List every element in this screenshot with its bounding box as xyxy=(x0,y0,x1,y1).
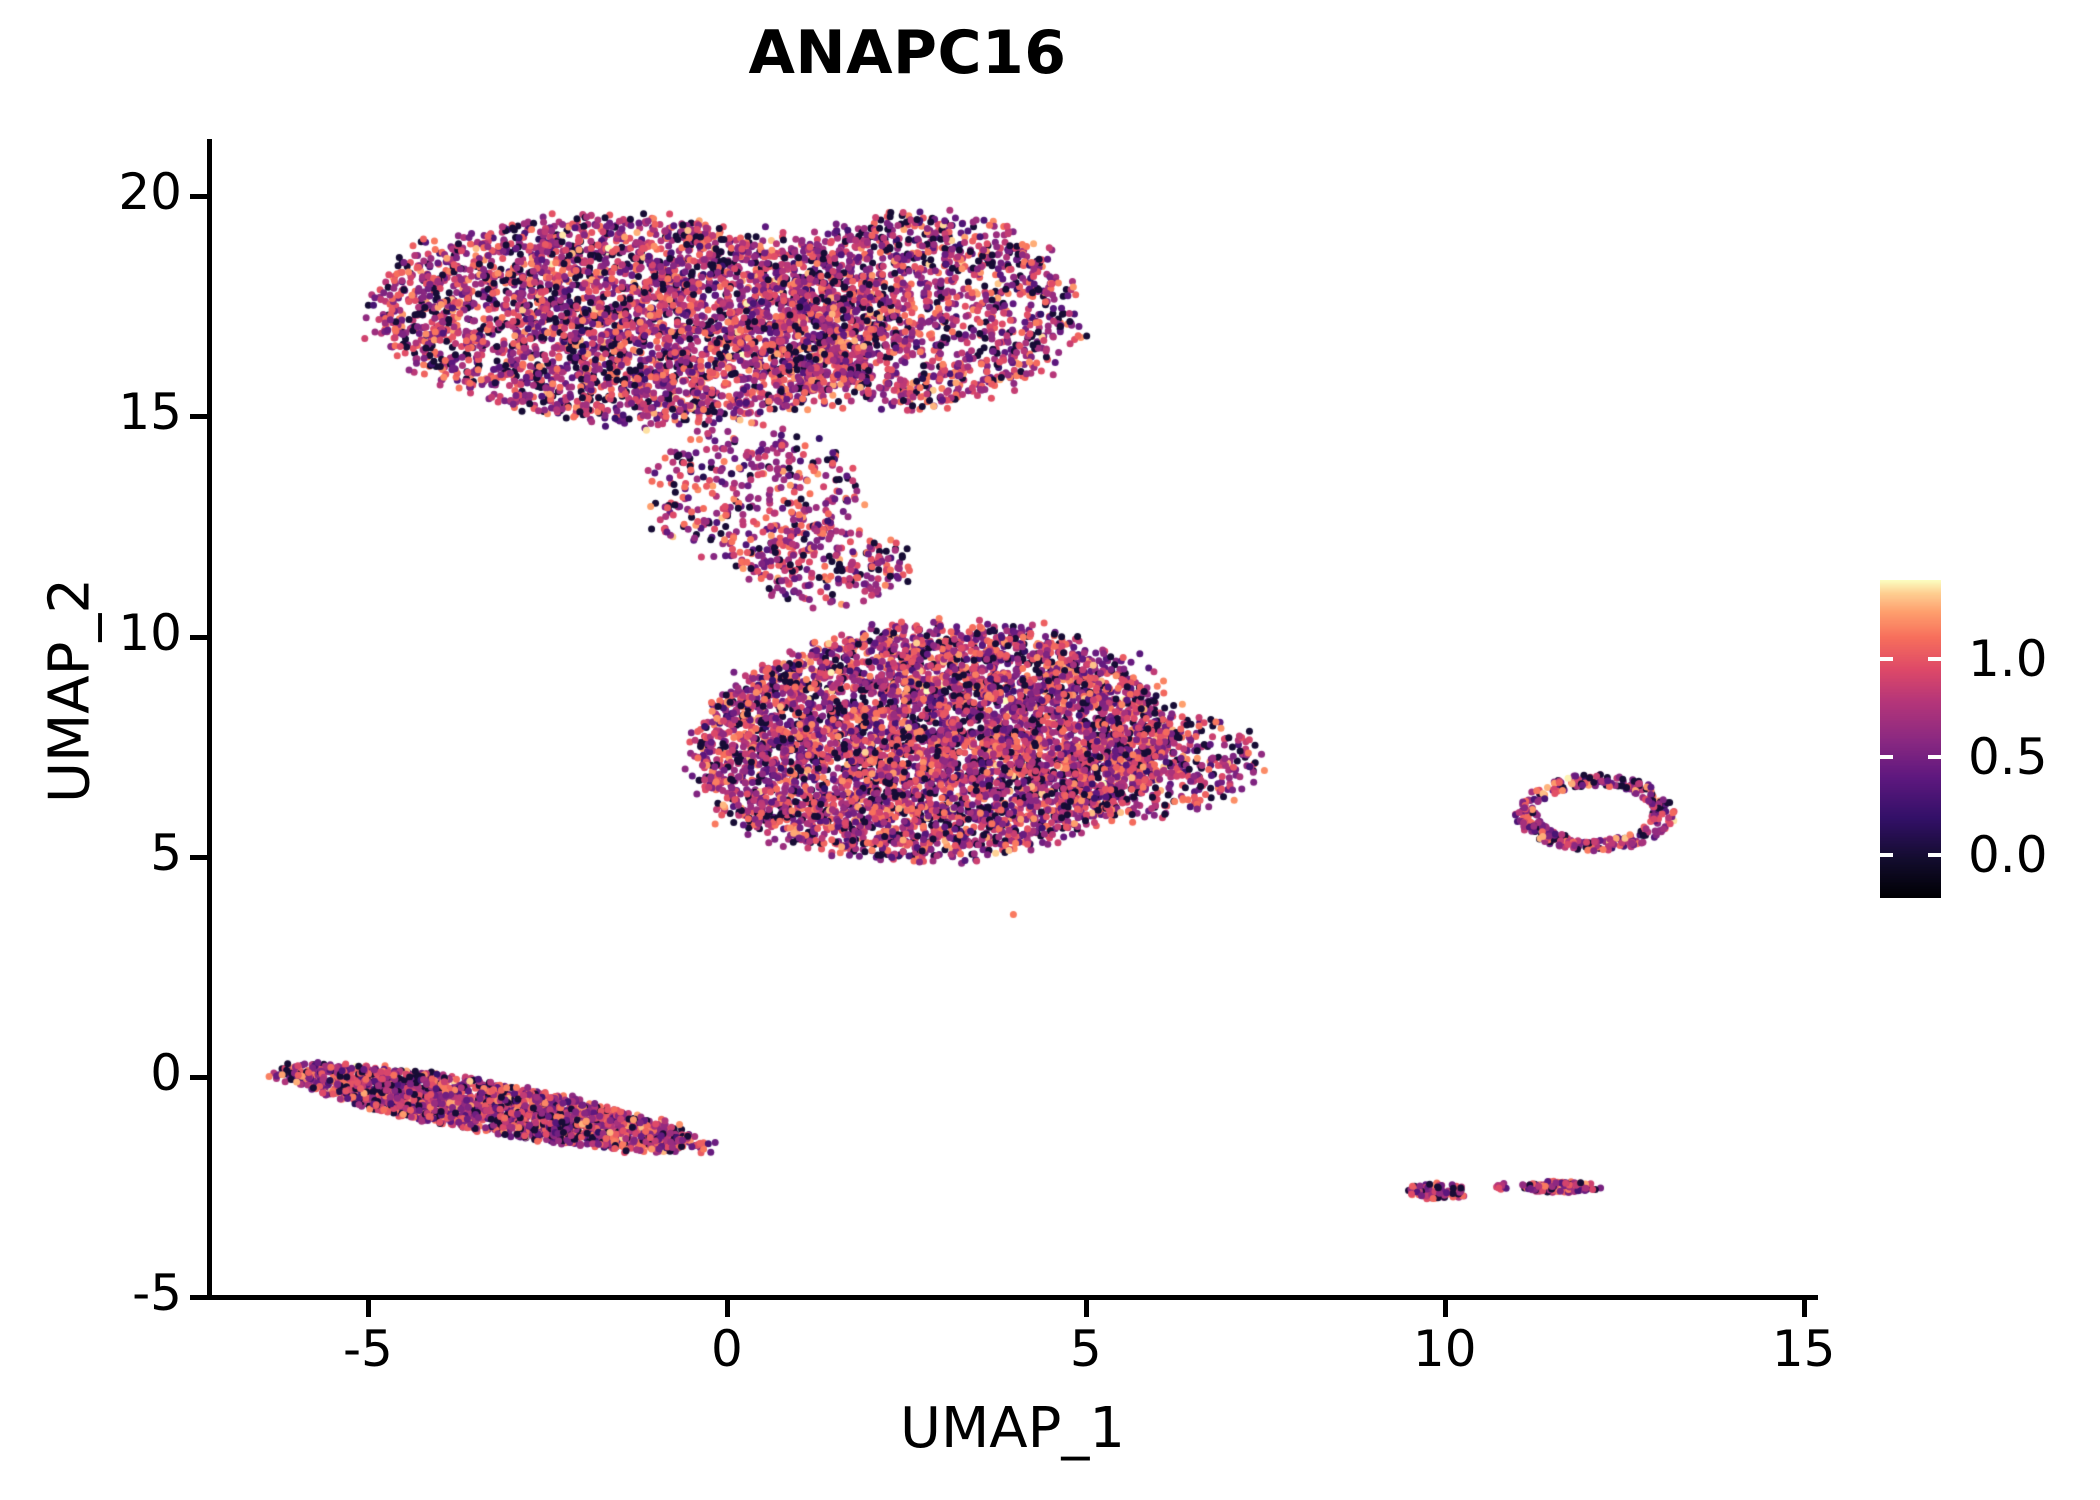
x-tick-mark xyxy=(1084,1300,1089,1317)
y-axis-label: UMAP_2 xyxy=(38,311,103,1071)
y-tick-mark xyxy=(190,635,207,640)
x-tick-label: -5 xyxy=(343,1320,393,1378)
colorbar-label-1.0: 1.0 xyxy=(1968,630,2048,688)
y-tick-label: -5 xyxy=(132,1264,182,1322)
colorbar-label-0.0: 0.0 xyxy=(1968,826,2048,884)
page-title: ANAPC16 xyxy=(0,18,1815,88)
colorbar-tick-0.5-left xyxy=(1880,755,1893,759)
colorbar-tick-0.0-right xyxy=(1928,853,1941,857)
colorbar-tick-0.0-left xyxy=(1880,853,1893,857)
y-tick-mark xyxy=(190,1295,207,1300)
x-tick-mark xyxy=(725,1300,730,1317)
x-tick-mark xyxy=(1802,1300,1807,1317)
y-axis-spine xyxy=(207,139,212,1300)
colorbar-gradient xyxy=(1880,580,1941,898)
x-tick-mark xyxy=(1443,1300,1448,1317)
x-tick-mark xyxy=(366,1300,371,1317)
x-axis-spine xyxy=(207,1295,1818,1300)
y-tick-label: 20 xyxy=(118,163,182,221)
scatter-plot-canvas xyxy=(210,139,1818,1297)
y-tick-label: 15 xyxy=(118,383,182,441)
colorbar-tick-1.0-left xyxy=(1880,657,1893,661)
y-tick-label: 10 xyxy=(118,604,182,662)
y-tick-label: 5 xyxy=(150,824,182,882)
y-tick-label: 0 xyxy=(150,1044,182,1102)
colorbar-tick-1.0-right xyxy=(1928,657,1941,661)
umap-figure: ANAPC16 -505101520 -5051015 UMAP_1 UMAP_… xyxy=(0,0,2100,1500)
y-tick-mark xyxy=(190,194,207,199)
colorbar-tick-0.5-right xyxy=(1928,755,1941,759)
y-tick-mark xyxy=(190,855,207,860)
x-tick-label: 15 xyxy=(1772,1320,1836,1378)
x-tick-label: 5 xyxy=(1070,1320,1102,1378)
x-tick-label: 0 xyxy=(711,1320,743,1378)
x-axis-label: UMAP_1 xyxy=(0,1396,2025,1461)
colorbar xyxy=(1880,580,1941,898)
y-tick-mark xyxy=(190,1075,207,1080)
colorbar-label-0.5: 0.5 xyxy=(1968,728,2048,786)
y-tick-mark xyxy=(190,414,207,419)
x-tick-label: 10 xyxy=(1413,1320,1477,1378)
